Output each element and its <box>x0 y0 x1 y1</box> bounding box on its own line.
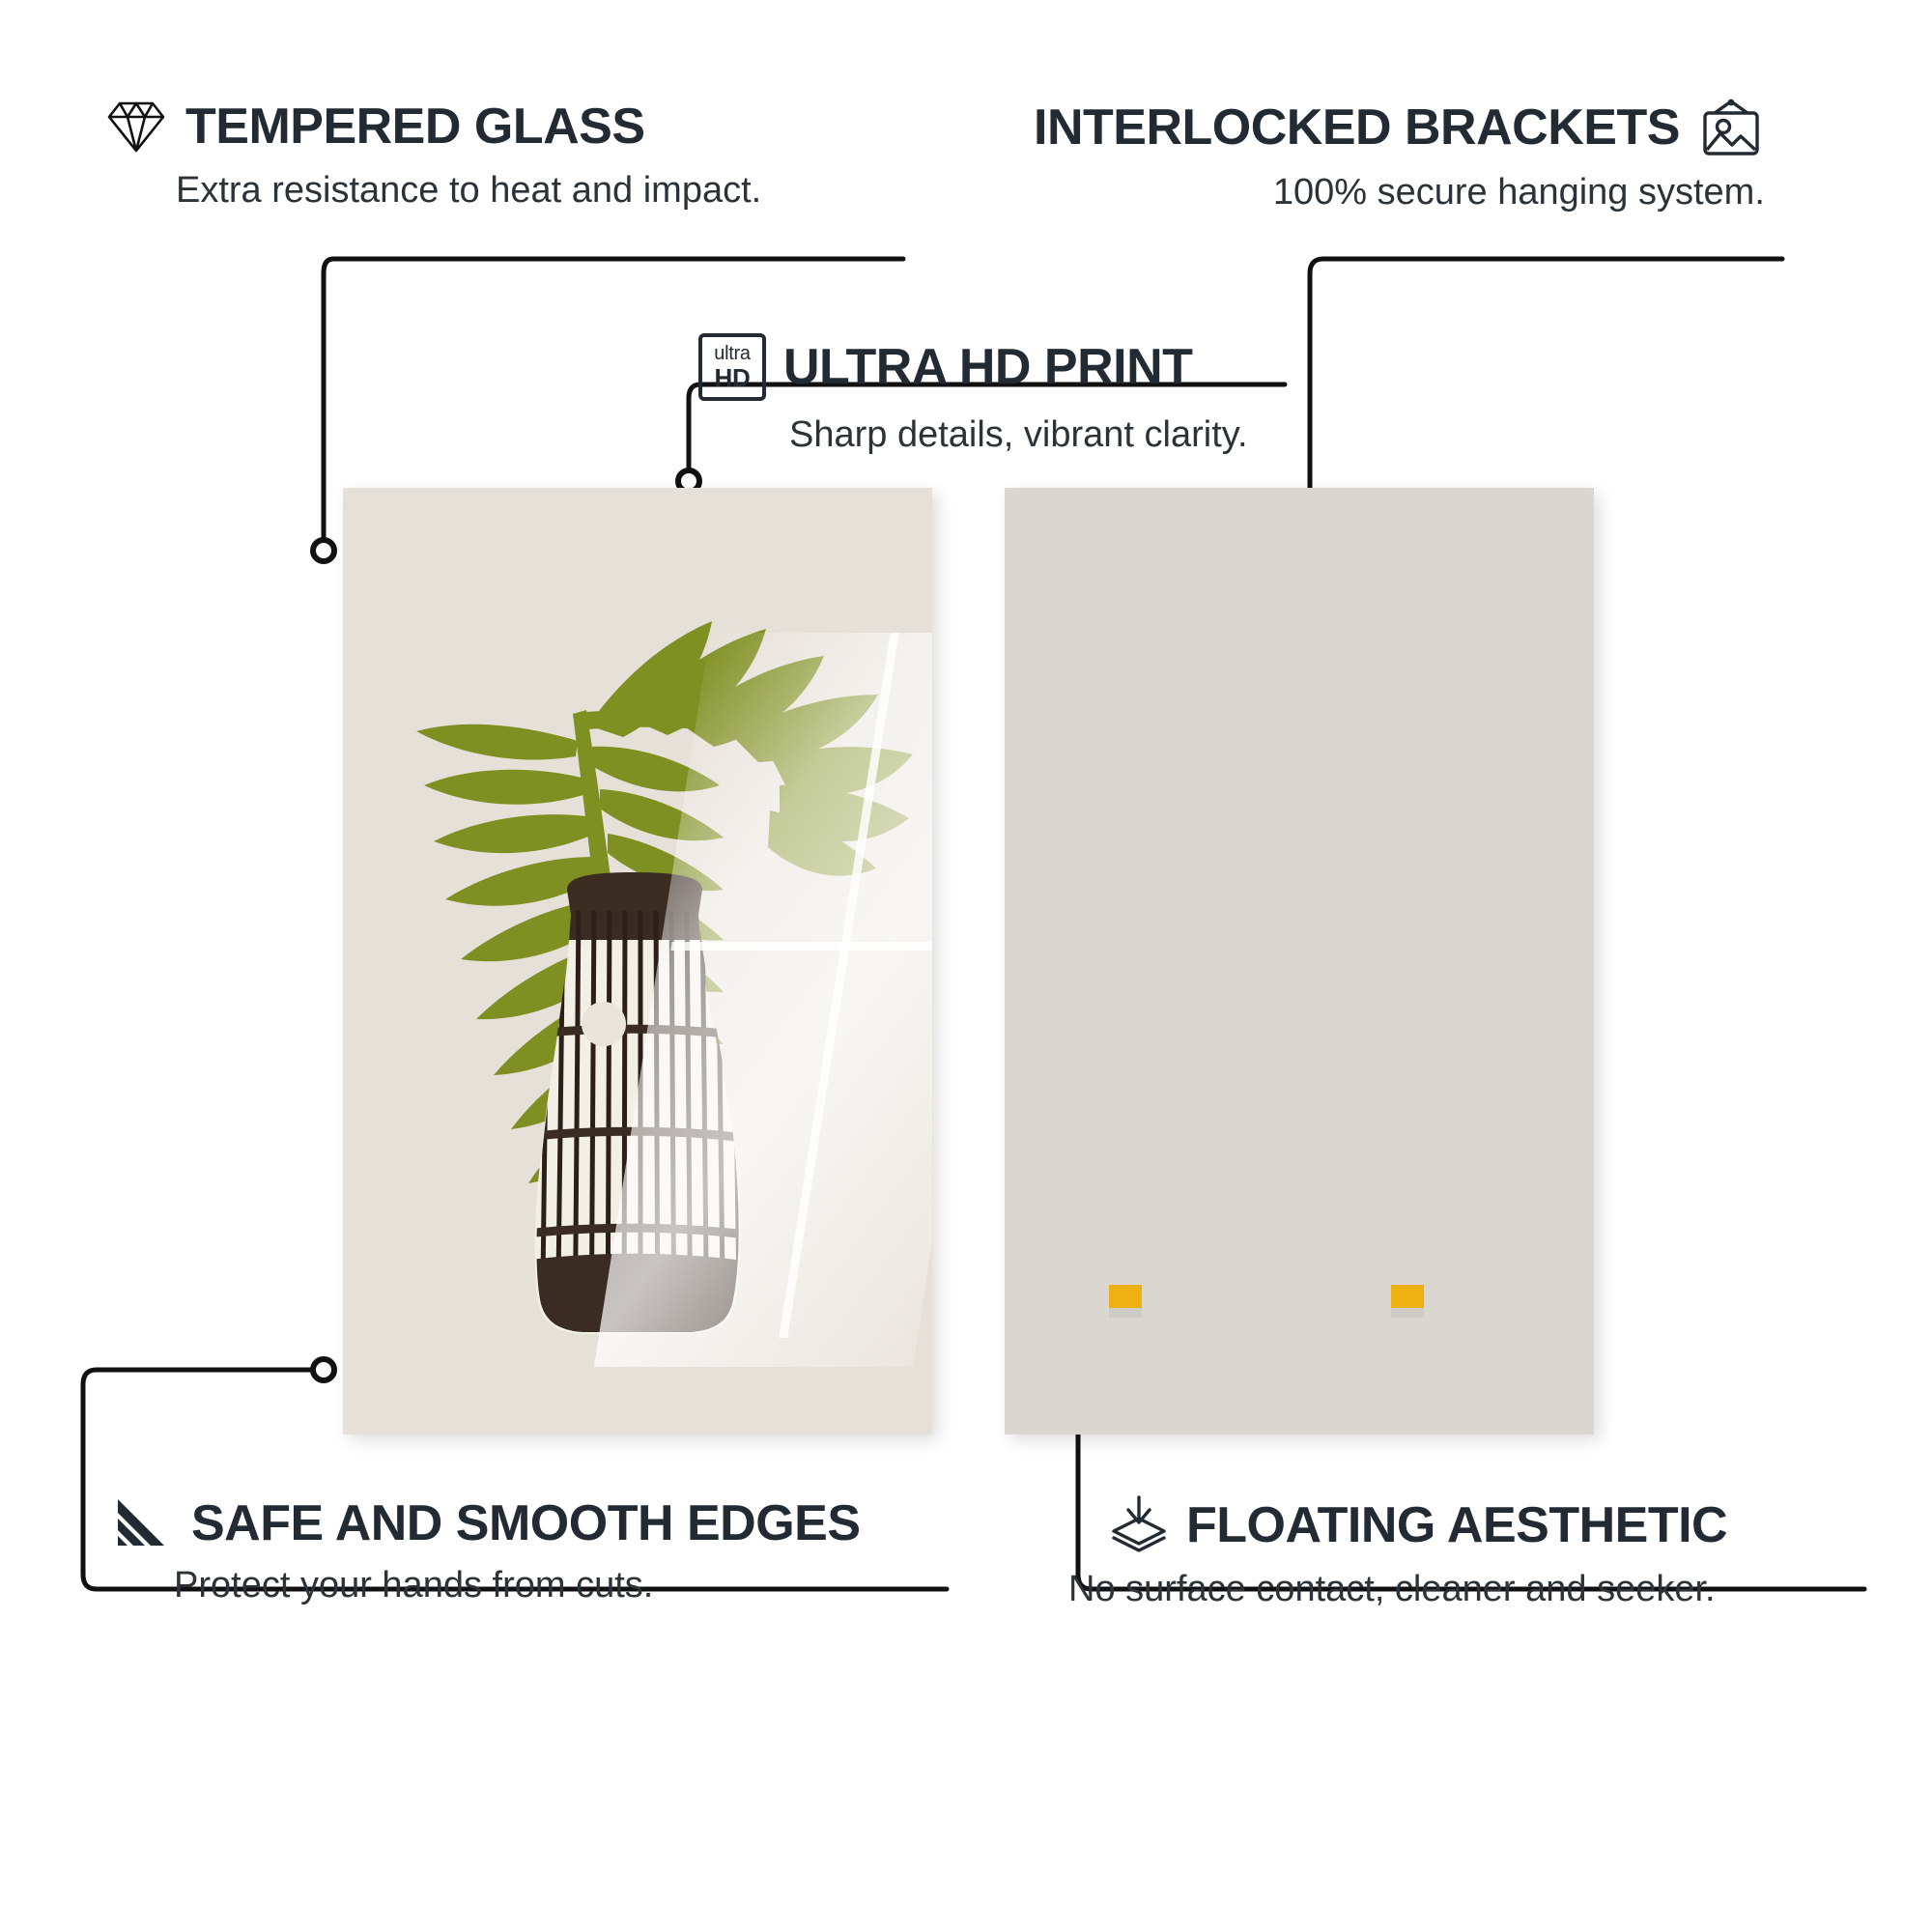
artwork-illustration <box>343 488 932 1435</box>
badge-line-1: ultra <box>714 344 750 363</box>
feature-subtitle: Extra resistance to heat and impact. <box>176 170 761 212</box>
feature-subtitle: 100% secure hanging system. <box>991 172 1765 213</box>
feature-interlocked-brackets: INTERLOCKED BRACKETS 100% secure hanging… <box>1034 97 1765 213</box>
feature-subtitle: Sharp details, vibrant clarity. <box>789 414 1248 456</box>
wire-dot-safe-edges <box>313 1359 334 1380</box>
ultra-hd-badge-icon: ultra HD <box>698 333 766 401</box>
feature-subtitle: No surface contact, cleaner and seeker. <box>1068 1569 1727 1610</box>
feature-title: SAFE AND SMOOTH EDGES <box>191 1498 861 1548</box>
feature-subtitle: Protect your hands from cuts. <box>174 1565 861 1606</box>
feature-title: TEMPERED GLASS <box>185 101 645 152</box>
feature-tempered-glass: TEMPERED GLASS Extra resistance to heat … <box>104 97 761 212</box>
infographic-canvas: TEMPERED GLASS Extra resistance to heat … <box>0 0 1932 1932</box>
glass-print-front-panel[interactable] <box>343 488 932 1435</box>
diagonal-edges-icon <box>114 1495 174 1551</box>
wire-dot-tempered-glass <box>313 540 334 561</box>
feature-ultra-hd-print: ultra HD ULTRA HD PRINT Sharp details, v… <box>698 333 1248 456</box>
feature-floating-aesthetic: FLOATING AESTHETIC No surface contact, c… <box>1109 1495 1727 1610</box>
window-mullion-horizontal <box>670 942 932 951</box>
badge-line-2: HD <box>715 365 751 390</box>
glass-print-back-panel[interactable] <box>1005 488 1594 1435</box>
feature-title: INTERLOCKED BRACKETS <box>1034 102 1680 153</box>
diamond-icon <box>104 97 168 156</box>
spacer-pad-right <box>1391 1285 1424 1318</box>
spacer-pad-left <box>1109 1285 1142 1318</box>
feature-safe-smooth-edges: SAFE AND SMOOTH EDGES Protect your hands… <box>114 1495 861 1606</box>
feature-title: FLOATING AESTHETIC <box>1186 1500 1727 1550</box>
feature-title: ULTRA HD PRINT <box>783 342 1192 392</box>
hanging-picture-icon <box>1697 97 1765 158</box>
callout-connectors <box>0 0 1932 1932</box>
arrow-into-layers-icon <box>1109 1495 1169 1555</box>
